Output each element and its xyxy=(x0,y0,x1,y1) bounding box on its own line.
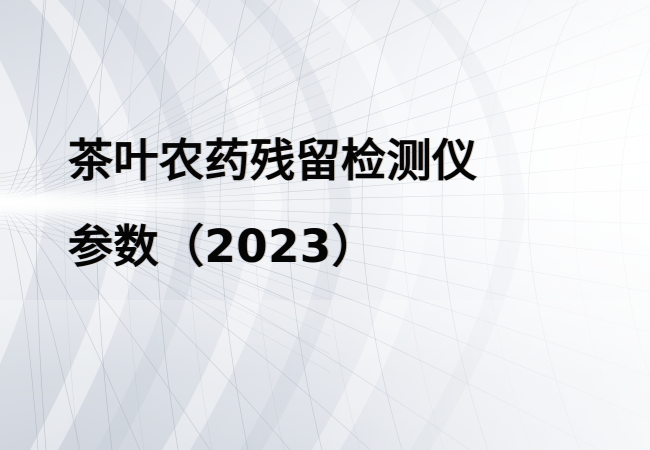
banner-headline: 茶叶农药残留检测仪 参数（2023） xyxy=(68,118,628,290)
mesh-lower-fade xyxy=(0,300,650,450)
title-banner: 茶叶农药残留检测仪 参数（2023） xyxy=(0,0,650,450)
headline-line-1: 茶叶农药残留检测仪 xyxy=(68,118,628,204)
headline-line-2: 参数（2023） xyxy=(68,204,628,290)
